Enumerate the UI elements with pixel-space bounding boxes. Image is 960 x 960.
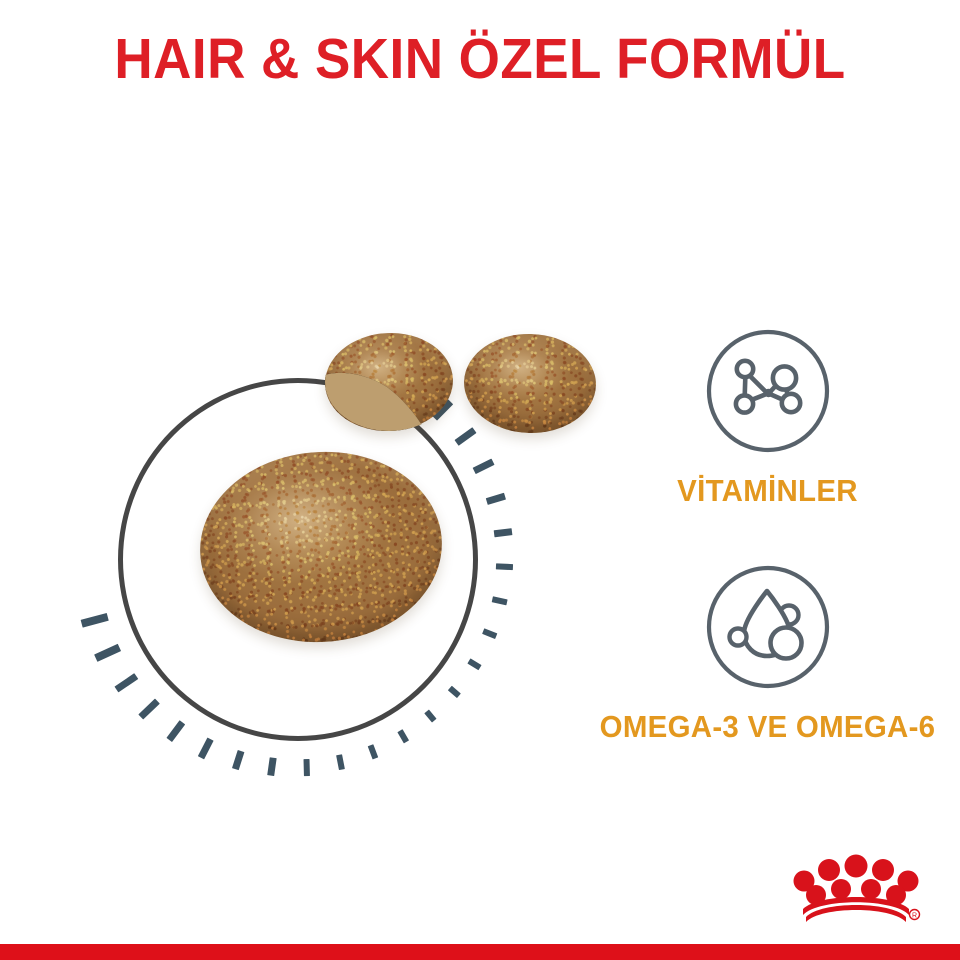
magnifier-tick (425, 710, 437, 723)
magnifier-tick (198, 738, 214, 759)
promo-banner: HAIR & SKIN ÖZEL FORMÜL (0, 0, 960, 960)
magnifier-tick (455, 427, 477, 446)
magnifier-tick (494, 528, 513, 537)
magnifier-tick (303, 759, 310, 776)
royal-canin-crown-logo: R (786, 848, 926, 926)
magnifier-tick (81, 613, 109, 628)
oil-droplet-icon (704, 563, 832, 691)
magnifier-tick (496, 563, 513, 570)
feature-omega: OMEGA-3 VE OMEGA-6 (575, 561, 960, 745)
magnifier-tick (95, 644, 122, 662)
magnifier-tick (397, 729, 409, 743)
feature-list: VİTAMİNLER OMEGA-3 VE OMEGA-6 (575, 325, 960, 763)
magnifier-tick (448, 686, 461, 698)
magnifier-tick (138, 698, 160, 719)
svg-text:R: R (912, 913, 917, 920)
page-title: HAIR & SKIN ÖZEL FORMÜL (34, 26, 927, 92)
feature-icon-wrap (575, 561, 960, 693)
magnifier-tick (492, 596, 508, 605)
magnifier-tick (467, 658, 481, 670)
magnifier-tick (114, 673, 138, 693)
magnifier-tick (232, 750, 244, 770)
magnifier-ring (118, 378, 478, 741)
magnifier-tick (336, 754, 345, 770)
magnifier-tick (473, 459, 495, 474)
feature-vitamins: VİTAMİNLER (575, 325, 960, 509)
magnifier-tick (486, 493, 506, 505)
bottom-red-bar (0, 944, 960, 960)
molecule-icon (704, 327, 832, 455)
feature-icon-wrap (575, 325, 960, 457)
magnifier-tick (166, 720, 185, 742)
feature-label-omega: OMEGA-3 VE OMEGA-6 (585, 709, 951, 745)
registered-mark-icon: R (910, 910, 920, 920)
magnifier-tick (482, 628, 497, 639)
magnifier-tick (268, 757, 277, 776)
feature-label-vitamins: VİTAMİNLER (585, 473, 951, 509)
magnifier-tick (368, 744, 379, 759)
